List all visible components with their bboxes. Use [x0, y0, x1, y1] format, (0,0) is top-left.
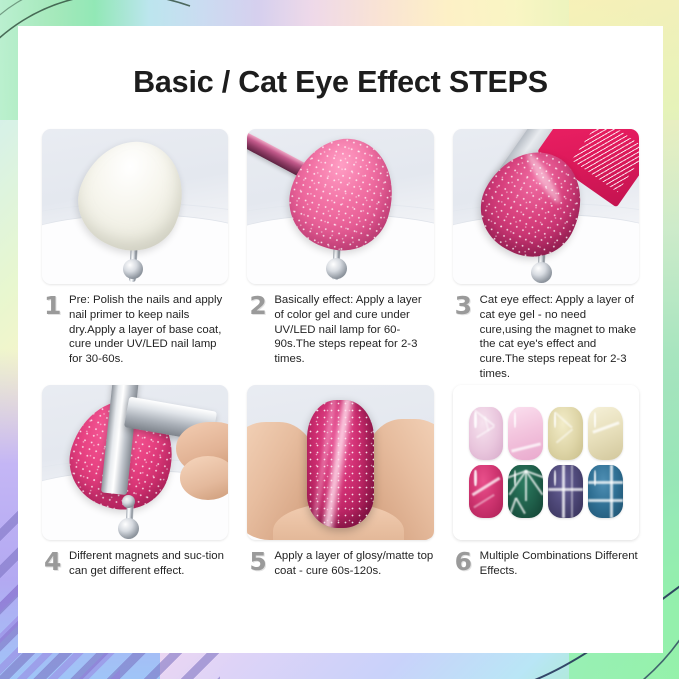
step-caption-1: 1 Pre: Polish the nails and apply nail p…: [42, 293, 228, 367]
step-item-1: 1 Pre: Polish the nails and apply nail p…: [42, 129, 228, 382]
step-text-1: Pre: Polish the nails and apply nail pri…: [69, 293, 228, 367]
step-item-3: eye 3 Cat eye effect: Apply: [453, 129, 639, 382]
swatch-ivory: [588, 407, 623, 460]
step-caption-6: 6 Multiple Combinations Different Effect…: [453, 549, 639, 579]
page-root: Basic / Cat Eye Effect STEPS: [0, 0, 679, 679]
step-text-3: Cat eye effect: Apply a layer of cat eye…: [480, 293, 639, 382]
finished-cat-eye-nail-in-hand-photo: [247, 385, 433, 540]
swatch-pink-marble: [469, 407, 504, 460]
step-number-3: 3: [455, 293, 473, 382]
step-item-6: 6 Multiple Combinations Different Effect…: [453, 385, 639, 579]
step-text-6: Multiple Combinations Different Effects.: [480, 549, 639, 579]
step-caption-3: 3 Cat eye effect: Apply a layer of cat e…: [453, 293, 639, 382]
swatch-green-burst: [508, 465, 543, 518]
pink-color-gel-brush-photo: [247, 129, 433, 284]
step-number-5: 5: [249, 549, 267, 579]
step-text-5: Apply a layer of glosy/matte top coat - …: [274, 549, 433, 579]
swatch-light-pink: [508, 407, 543, 460]
magnet-over-nail-photo: [42, 385, 228, 540]
step-number-4: 4: [44, 549, 62, 579]
step-item-2: 2 Basically effect: Apply a layer of col…: [247, 129, 433, 382]
combination-swatches-photo: [453, 385, 639, 540]
swatch-magenta: [469, 465, 504, 518]
swatch-purple-plaid: [548, 465, 583, 518]
step-caption-4: 4 Different magnets and suc-tion can get…: [42, 549, 228, 579]
step-text-2: Basically effect: Apply a layer of color…: [274, 293, 433, 367]
step-item-4: 4 Different magnets and suc-tion can get…: [42, 385, 228, 579]
nail-tip-with-base-coat-photo: [42, 129, 228, 284]
step-number-1: 1: [44, 293, 62, 367]
step-caption-2: 2 Basically effect: Apply a layer of col…: [247, 293, 433, 367]
step-number-6: 6: [455, 549, 473, 579]
content-card: Basic / Cat Eye Effect STEPS: [18, 26, 663, 653]
swatch-blue-band: [588, 465, 623, 518]
step-caption-5: 5 Apply a layer of glosy/matte top coat …: [247, 549, 433, 579]
step-text-4: Different magnets and suc-tion can get d…: [69, 549, 228, 579]
step-number-2: 2: [249, 293, 267, 367]
step-item-5: 5 Apply a layer of glosy/matte top coat …: [247, 385, 433, 579]
page-title: Basic / Cat Eye Effect STEPS: [18, 65, 663, 100]
cat-eye-gel-bottle-photo: eye: [453, 129, 639, 284]
swatch-cream-gold: [548, 407, 583, 460]
steps-grid: 1 Pre: Polish the nails and apply nail p…: [18, 129, 663, 579]
